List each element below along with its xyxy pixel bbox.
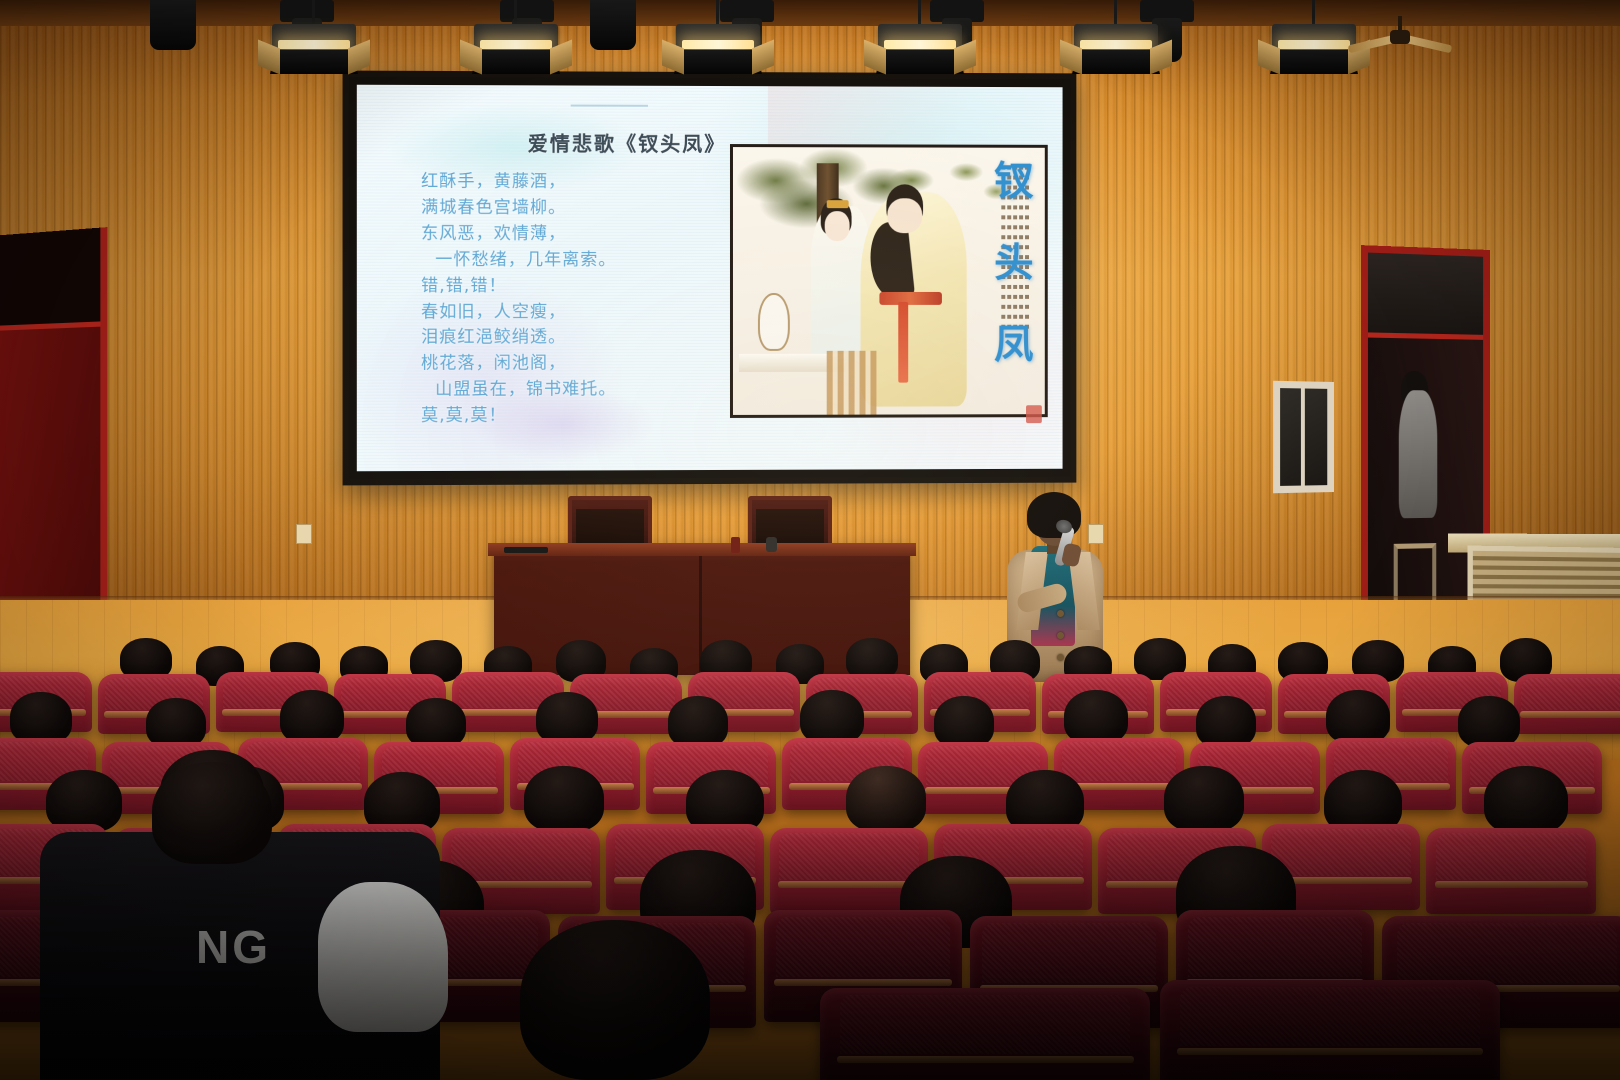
- poem-line: 山盟虽在，锦书难托。: [421, 377, 733, 404]
- painting-man-face: [887, 198, 921, 233]
- poem-line: 桃花落，闲池阁，: [421, 351, 733, 377]
- ceiling-speaker: [150, 0, 196, 50]
- stage-floodlight: [1070, 0, 1162, 88]
- calligraphy-char: 凤: [994, 324, 1034, 364]
- table-nameplate: [731, 537, 740, 553]
- poem-line: 满城春色宫墙柳。: [421, 196, 733, 222]
- audience-head: [1458, 696, 1520, 748]
- slide-calligraphy: 钗 头 凤: [975, 140, 1052, 385]
- audience-head: [1064, 690, 1128, 744]
- painting-vase: [758, 293, 790, 351]
- audience-head: [280, 690, 344, 744]
- audience-head: [46, 770, 122, 832]
- audience-head: [1164, 766, 1244, 832]
- audience-head: [846, 766, 926, 832]
- theater-seat[interactable]: [1514, 674, 1620, 734]
- audience-head: [800, 690, 864, 744]
- poem-line: 错,错,错！: [421, 274, 733, 300]
- poem-line: 红酥手，黄藤酒，: [421, 170, 733, 196]
- table-cup: [766, 537, 777, 552]
- ceiling-speaker: [590, 0, 636, 50]
- painting-woman-face: [825, 211, 850, 241]
- poem-line: 一怀愁绪，几年离索。: [421, 248, 733, 274]
- audience-head: [934, 696, 994, 748]
- poem-text-block: 红酥手，黄藤酒， 满城春色宫墙柳。 东风恶，欢情薄， 一怀愁绪，几年离索。 错,…: [421, 170, 733, 430]
- wall-outlet: [296, 524, 312, 544]
- audience-head: [1484, 766, 1568, 834]
- poem-line: 东风恶，欢情薄，: [421, 222, 733, 248]
- audience-head: [1326, 690, 1390, 744]
- stage-floodlight: [874, 0, 966, 88]
- slide-rule-line: [570, 105, 648, 107]
- poem-line: 春如旧，人空瘦，: [421, 300, 733, 326]
- calligraphy-char: 钗: [994, 161, 1034, 201]
- door-transom-left: [0, 228, 100, 331]
- red-seal-stamp: [1026, 405, 1042, 423]
- audience-head: [524, 766, 604, 832]
- painting-railing: [827, 351, 877, 415]
- painting-red-sash: [880, 292, 942, 305]
- theater-seat[interactable]: [820, 988, 1150, 1080]
- audience-student-head: [152, 762, 272, 864]
- speaker-coat-button: [1057, 610, 1064, 617]
- table-top-surface: [488, 543, 916, 556]
- calligraphy-char: 头: [994, 243, 1034, 283]
- wall-window: [1273, 381, 1334, 493]
- auditorium-photo: 爱情悲歌《钗头凤》 红酥手，黄藤酒， 满城春色宫墙柳。 东风恶，欢情薄， 一怀愁…: [0, 0, 1620, 1080]
- audience-head: [406, 698, 466, 748]
- stage-left-doorway[interactable]: [0, 227, 108, 641]
- audience-head: [520, 920, 710, 1080]
- table-microphone: [504, 547, 548, 553]
- ceiling-fan: [1352, 16, 1448, 56]
- painting-tassel: [898, 302, 907, 382]
- projection-screen[interactable]: 爱情悲歌《钗头凤》 红酥手，黄藤酒， 满城春色宫墙柳。 东风恶，欢情薄， 一怀愁…: [343, 71, 1077, 486]
- audience-head: [536, 692, 598, 744]
- poem-line: 泪痕红浥鲛绡透。: [421, 325, 733, 351]
- theater-seat[interactable]: [1160, 980, 1500, 1080]
- stage-floodlight: [1268, 0, 1360, 88]
- painting-hair-ornament: [827, 201, 849, 209]
- audience-head: [10, 692, 72, 744]
- seated-person-body: [1398, 390, 1437, 519]
- white-hood: [318, 882, 448, 1032]
- audience-head: [668, 696, 728, 748]
- stage-lighting-truss: [0, 0, 1620, 96]
- stage-floodlight: [672, 0, 764, 88]
- poem-line: 莫,莫,莫！: [421, 403, 733, 430]
- stage-floodlight: [268, 0, 360, 88]
- audience-head: [146, 698, 206, 748]
- theater-seat[interactable]: [1426, 828, 1596, 914]
- stage-floodlight: [470, 0, 562, 88]
- audience-head: [1196, 696, 1256, 748]
- door-transom-right: [1368, 253, 1483, 340]
- jacket-logo-text: NG: [196, 920, 271, 974]
- slide-surface: 爱情悲歌《钗头凤》 红酥手，黄藤酒， 满城春色宫墙柳。 东风恶，欢情薄， 一怀愁…: [357, 85, 1063, 472]
- audience-seating: NG: [0, 620, 1620, 1080]
